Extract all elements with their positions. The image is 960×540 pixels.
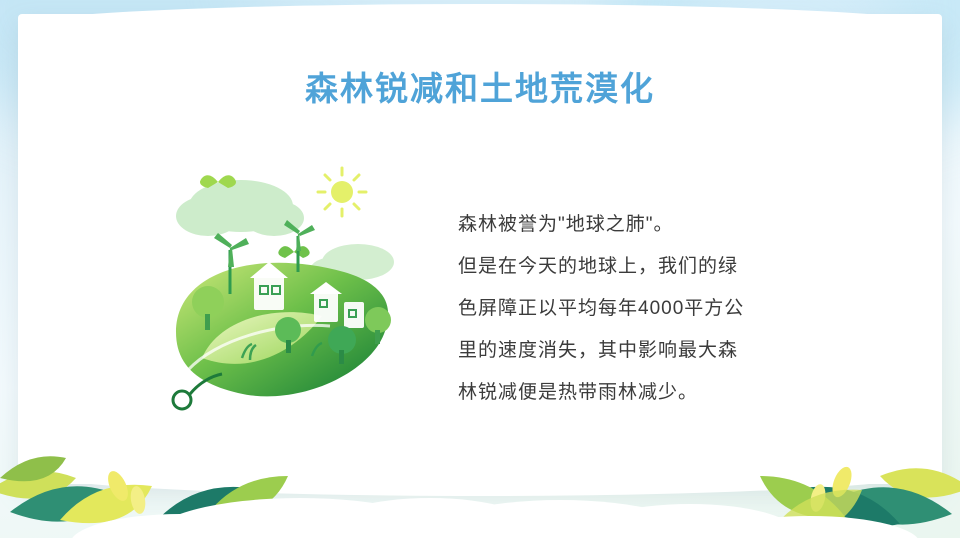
- body-line: 色屏障正以平均每年4000平方公: [458, 288, 858, 330]
- body-line: 里的速度消失，其中影响最大森: [458, 330, 858, 372]
- content-card: 森林锐减和土地荒漠化: [18, 14, 942, 484]
- body-line: 但是在今天的地球上，我们的绿: [458, 246, 858, 288]
- bottom-decoration: [0, 420, 960, 540]
- page-title: 森林锐减和土地荒漠化: [18, 62, 942, 110]
- eco-city-leaf-illustration: [146, 144, 436, 444]
- body-line: 林锐减便是热带雨林减少。: [458, 372, 858, 414]
- slide-canvas: 森林锐减和土地荒漠化: [0, 0, 960, 540]
- body-paragraph: 森林被誉为"地球之肺"。 但是在今天的地球上，我们的绿 色屏障正以平均每年400…: [458, 204, 858, 414]
- body-line: 森林被誉为"地球之肺"。: [458, 204, 858, 246]
